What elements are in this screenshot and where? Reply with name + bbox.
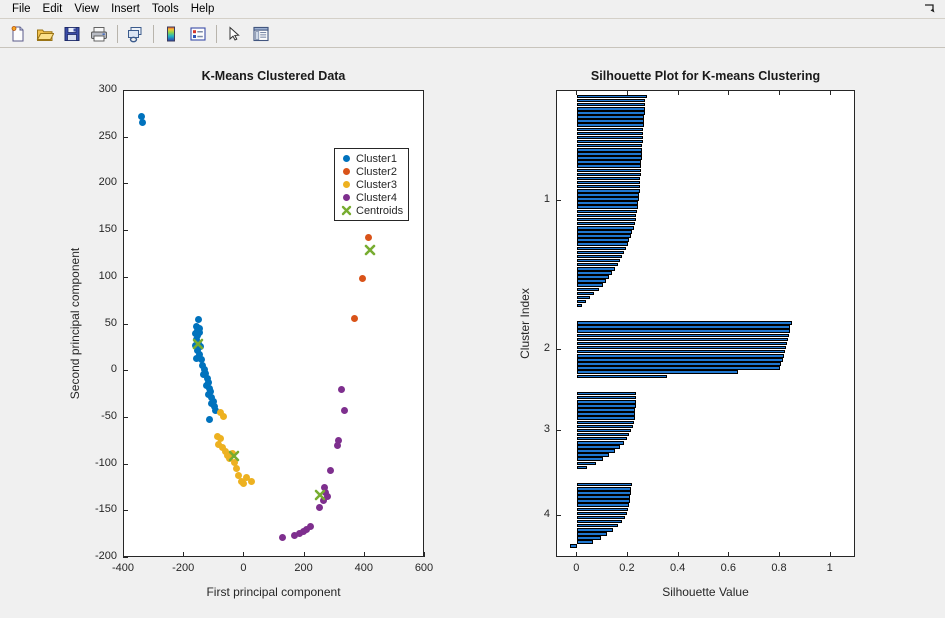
silhouette-bar (577, 103, 645, 107)
menu-item-view[interactable]: View (68, 2, 105, 16)
scatter-x-tick-label: -200 (153, 562, 213, 574)
centroid-marker (314, 488, 326, 500)
scatter-y-tick-label: 100 (75, 270, 117, 282)
silhouette-axes[interactable] (556, 90, 855, 557)
scatter-legend[interactable]: Cluster1Cluster2Cluster3Cluster4Centroid… (334, 148, 409, 221)
silhouette-bar (577, 508, 628, 512)
silhouette-x-axis-label: Silhouette Value (556, 585, 855, 599)
scatter-y-tick (123, 557, 128, 558)
scatter-x-tick-label: -400 (93, 562, 153, 574)
silhouette-bar (577, 342, 787, 346)
silhouette-x-tick (627, 552, 628, 557)
silhouette-bar (577, 354, 784, 358)
silhouette-bar (577, 433, 629, 437)
silhouette-bar (577, 487, 631, 491)
silhouette-x-tick (779, 552, 780, 557)
silhouette-x-tick-top (627, 90, 628, 95)
silhouette-bar (577, 128, 643, 132)
silhouette-bar (577, 375, 666, 379)
silhouette-bar (577, 437, 627, 441)
scatter-y-tick (123, 370, 128, 371)
silhouette-x-tick (830, 552, 831, 557)
silhouette-bar (577, 404, 635, 408)
silhouette-bar (577, 267, 615, 271)
silhouette-bar (577, 218, 635, 222)
scatter-x-tick (424, 552, 425, 557)
colorbar-icon[interactable] (158, 21, 184, 47)
silhouette-bar (577, 201, 638, 205)
silhouette-bar (577, 156, 641, 160)
silhouette-y-tick-label: 1 (510, 193, 550, 205)
silhouette-bar (577, 528, 612, 532)
centroid-marker (192, 337, 204, 349)
silhouette-bar (577, 325, 790, 329)
scatter-x-tick-label: 400 (334, 562, 394, 574)
silhouette-bar (577, 350, 785, 354)
scatter-y-tick (123, 324, 128, 325)
silhouette-bar (577, 185, 640, 189)
silhouette-bar (577, 99, 645, 103)
legend-label: Cluster4 (356, 192, 397, 204)
silhouette-bar (577, 279, 606, 283)
toolbar-separator-1 (117, 25, 118, 43)
silhouette-x-tick (728, 552, 729, 557)
property-inspector-icon[interactable] (248, 21, 274, 47)
legend-label: Cluster1 (356, 153, 397, 165)
scatter-x-tick (243, 552, 244, 557)
silhouette-bar (577, 230, 632, 234)
silhouette-bar (577, 238, 629, 242)
silhouette-bar (577, 152, 642, 156)
scatter-y-tick (123, 417, 128, 418)
scatter-y-tick (123, 277, 128, 278)
figure-canvas: K-Means Clustered Data First principal c… (0, 49, 945, 618)
scatter-y-tick-label: -100 (75, 457, 117, 469)
scatter-x-tick (364, 552, 365, 557)
scatter-point-cluster4 (334, 442, 341, 449)
silhouette-bar (577, 408, 635, 412)
legend-icon[interactable] (185, 21, 211, 47)
silhouette-bar (577, 214, 636, 218)
scatter-y-tick (123, 230, 128, 231)
silhouette-x-tick-top (576, 90, 577, 95)
silhouette-bar (577, 392, 636, 396)
silhouette-bar (577, 503, 629, 507)
silhouette-bar (577, 338, 788, 342)
silhouette-bar (577, 421, 634, 425)
silhouette-bar (577, 453, 609, 457)
silhouette-bar (577, 362, 781, 366)
legend-x-marker-icon (339, 205, 353, 216)
centroid-marker (364, 243, 376, 255)
silhouette-bar (577, 169, 641, 173)
silhouette-y-axis-label: Cluster Index (518, 90, 532, 557)
silhouette-bar (577, 416, 634, 420)
scatter-point-cluster4 (338, 386, 345, 393)
silhouette-bar (577, 189, 639, 193)
silhouette-bar (577, 123, 643, 127)
silhouette-y-tick-label: 2 (510, 342, 550, 354)
menu-bar: File Edit View Insert Tools Help (0, 0, 945, 19)
silhouette-bar (577, 466, 587, 470)
silhouette-bar (577, 181, 640, 185)
silhouette-x-tick-top (830, 90, 831, 95)
silhouette-bar (577, 483, 632, 487)
scatter-point-cluster2 (351, 315, 358, 322)
silhouette-x-tick (576, 552, 577, 557)
silhouette-bar (577, 247, 626, 251)
legend-entry-cluster3: Cluster3 (339, 178, 403, 191)
menu-item-file[interactable]: File (6, 2, 37, 16)
silhouette-bar (577, 263, 618, 267)
legend-label: Cluster2 (356, 166, 397, 178)
silhouette-bar (577, 396, 636, 400)
legend-dot-marker-icon (339, 194, 353, 201)
scatter-point-cluster1 (206, 416, 213, 423)
legend-entry-centroids: Centroids (339, 204, 403, 217)
legend-entry-cluster1: Cluster1 (339, 152, 403, 165)
silhouette-bar (577, 271, 612, 275)
scatter-y-tick (123, 510, 128, 511)
scatter-y-tick-label: -50 (75, 410, 117, 422)
scatter-y-tick (123, 90, 128, 91)
toolbar-separator-2 (153, 25, 154, 43)
menu-item-edit[interactable]: Edit (37, 2, 69, 16)
undock-arrow-icon[interactable] (923, 2, 937, 16)
silhouette-bar (577, 445, 620, 449)
silhouette-bar (577, 275, 609, 279)
scatter-x-tick-label: 600 (394, 562, 454, 574)
scatter-point-cluster4 (341, 407, 348, 414)
silhouette-bar (577, 304, 582, 308)
scatter-y-tick-label: 300 (75, 83, 117, 95)
scatter-point-cluster2 (365, 234, 372, 241)
silhouette-bar (577, 283, 602, 287)
toolbar (0, 20, 945, 48)
legend-dot-marker-icon (339, 168, 353, 175)
silhouette-bar (577, 132, 643, 136)
silhouette-bar (577, 495, 630, 499)
silhouette-x-tick-top (728, 90, 729, 95)
silhouette-bar (577, 462, 595, 466)
silhouette-y-tick (556, 430, 561, 431)
silhouette-bar (577, 222, 634, 226)
scatter-x-tick-label: 0 (213, 562, 273, 574)
silhouette-bar (570, 544, 578, 548)
scatter-point-cluster4 (316, 504, 323, 511)
scatter-point-cluster2 (359, 275, 366, 282)
silhouette-bar (577, 115, 644, 119)
link-plot-icon[interactable] (122, 21, 148, 47)
menu-item-help[interactable]: Help (185, 2, 221, 16)
save-figure-icon[interactable] (59, 21, 85, 47)
menu-item-insert[interactable]: Insert (105, 2, 146, 16)
silhouette-bar (577, 136, 643, 140)
silhouette-bar (577, 536, 600, 540)
scatter-y-tick-label: -200 (75, 550, 117, 562)
silhouette-y-tick-label: 4 (510, 508, 550, 520)
scatter-x-tick (304, 552, 305, 557)
legend-dot-marker-icon (339, 181, 353, 188)
silhouette-bar (577, 255, 622, 259)
new-figure-icon[interactable] (5, 21, 31, 47)
silhouette-bar (577, 412, 635, 416)
legend-label: Cluster3 (356, 179, 397, 191)
silhouette-bar (577, 512, 627, 516)
scatter-y-tick-label: 0 (75, 363, 117, 375)
silhouette-bar (577, 296, 590, 300)
scatter-point-cluster4 (291, 532, 298, 539)
silhouette-bar (577, 499, 630, 503)
silhouette-bar (577, 321, 791, 325)
menu-item-tools[interactable]: Tools (146, 2, 185, 16)
silhouette-bar (577, 95, 647, 99)
scatter-point-cluster1 (139, 119, 146, 126)
legend-label: Centroids (356, 205, 403, 217)
silhouette-bar (577, 173, 640, 177)
silhouette-bar (577, 140, 642, 144)
silhouette-bar (577, 197, 639, 201)
legend-entry-cluster2: Cluster2 (339, 165, 403, 178)
silhouette-x-tick-top (678, 90, 679, 95)
silhouette-bar (577, 346, 786, 350)
silhouette-bar (577, 532, 607, 536)
silhouette-bar (577, 242, 628, 246)
silhouette-bar (577, 251, 624, 255)
silhouette-bar (577, 193, 639, 197)
silhouette-bar (577, 300, 586, 304)
scatter-point-cluster3 (220, 413, 227, 420)
legend-entry-cluster4: Cluster4 (339, 191, 403, 204)
silhouette-bar (577, 205, 638, 209)
scatter-point-cluster3 (233, 465, 240, 472)
toolbar-separator-3 (216, 25, 217, 43)
silhouette-bar (577, 524, 618, 528)
scatter-y-tick-label: 200 (75, 176, 117, 188)
silhouette-bar (577, 107, 644, 111)
silhouette-bar (577, 441, 624, 445)
scatter-y-tick (123, 464, 128, 465)
scatter-y-tick-label: 150 (75, 223, 117, 235)
silhouette-bar (577, 148, 642, 152)
silhouette-bar (577, 540, 593, 544)
scatter-plot-title: K-Means Clustered Data (123, 69, 424, 83)
silhouette-bar (577, 226, 633, 230)
silhouette-bar (577, 160, 641, 164)
silhouette-bar (577, 358, 783, 362)
silhouette-bar (577, 520, 622, 524)
silhouette-y-tick-label: 3 (510, 423, 550, 435)
scatter-x-tick-label: 200 (274, 562, 334, 574)
silhouette-y-tick (556, 515, 561, 516)
silhouette-bar (577, 334, 789, 338)
scatter-point-cluster4 (327, 467, 334, 474)
silhouette-bar (577, 491, 631, 495)
silhouette-bar (577, 370, 738, 374)
silhouette-bar (577, 288, 599, 292)
silhouette-bar (577, 329, 789, 333)
silhouette-bar (577, 516, 625, 520)
scatter-point-cluster4 (279, 534, 286, 541)
silhouette-bar (577, 457, 602, 461)
scatter-point-cluster3 (243, 474, 250, 481)
open-file-icon[interactable] (32, 21, 58, 47)
scatter-y-tick (123, 137, 128, 138)
scatter-x-tick (183, 552, 184, 557)
silhouette-bar (577, 210, 637, 214)
pointer-arrow-icon[interactable] (221, 21, 247, 47)
silhouette-bar (577, 234, 631, 238)
silhouette-bar (577, 400, 636, 404)
silhouette-x-tick (678, 552, 679, 557)
scatter-y-tick (123, 183, 128, 184)
silhouette-bar (577, 449, 615, 453)
silhouette-x-tick-top (779, 90, 780, 95)
silhouette-bar (577, 292, 594, 296)
silhouette-bar (577, 177, 640, 181)
silhouette-y-tick (556, 200, 561, 201)
scatter-y-tick-label: -150 (75, 503, 117, 515)
silhouette-plot-title: Silhouette Plot for K-means Clustering (521, 69, 890, 83)
silhouette-bar (577, 119, 644, 123)
silhouette-bar (577, 259, 620, 263)
scatter-y-tick-label: 250 (75, 130, 117, 142)
silhouette-x-tick-label: 1 (800, 562, 860, 574)
legend-dot-marker-icon (339, 155, 353, 162)
silhouette-bar (577, 164, 641, 168)
print-figure-icon[interactable] (86, 21, 112, 47)
silhouette-bar (577, 425, 633, 429)
silhouette-bar (577, 111, 644, 115)
silhouette-y-tick (556, 349, 561, 350)
silhouette-bar (577, 366, 780, 370)
scatter-y-tick-label: 50 (75, 317, 117, 329)
silhouette-bar (577, 144, 642, 148)
silhouette-bar (577, 429, 631, 433)
centroid-marker (228, 449, 240, 461)
scatter-x-axis-label: First principal component (123, 585, 424, 599)
